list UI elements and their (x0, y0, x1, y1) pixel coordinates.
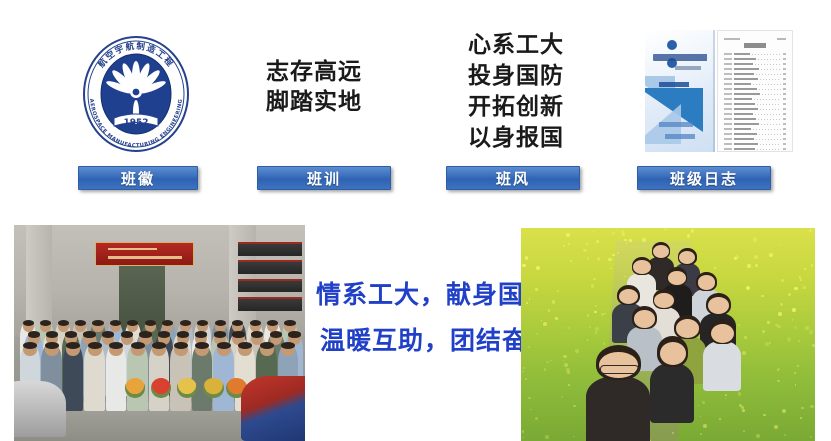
cover-university-subtitle (675, 66, 701, 70)
flower-speck (703, 424, 707, 428)
flower-speck (664, 228, 667, 231)
person-hair (66, 342, 80, 349)
flower-speck (552, 300, 555, 303)
toc-row (724, 52, 786, 56)
flower-speck (784, 434, 786, 436)
flower-speck (608, 258, 611, 261)
parked-car-left (14, 381, 66, 437)
flower-speck (753, 237, 757, 241)
banfeng-line-2: 投身国防 (468, 61, 564, 92)
toc-row (724, 77, 786, 81)
person-hair (177, 331, 189, 337)
person-body (650, 363, 694, 423)
person-hair (195, 331, 207, 337)
flower-speck (774, 425, 778, 429)
flower-speck (719, 418, 721, 420)
banfeng-motto-text: 心系工大 投身国防 开拓创新 以身报国 (468, 30, 564, 154)
flower-speck (567, 327, 570, 330)
flower-speck (589, 326, 591, 328)
cover-subtitle-line-2 (665, 134, 695, 139)
banxun-line-1: 志存高远 (266, 57, 362, 87)
person-face (711, 324, 734, 343)
person-face (708, 297, 729, 314)
person-hair (281, 342, 295, 349)
flower-speck (725, 398, 727, 400)
toc-row (724, 117, 786, 121)
flower-speck (792, 308, 796, 312)
banxun-line-2: 脚踏实地 (266, 87, 362, 117)
flower-speck (742, 351, 746, 355)
flower-speck (787, 337, 791, 341)
person-hair (214, 331, 226, 337)
banfeng-line-3: 开拓创新 (468, 92, 564, 123)
flower-speck (761, 295, 764, 298)
cover-university-name (653, 54, 709, 61)
flower-speck (746, 286, 750, 290)
banxun-motto-text: 志存高远 脚踏实地 (266, 57, 362, 117)
flower-speck (794, 372, 796, 374)
flower-speck (781, 279, 784, 282)
rapeseed-field-selfie (521, 228, 815, 441)
person-face (633, 260, 651, 274)
flower-speck (756, 434, 760, 438)
flower-speck (566, 368, 569, 371)
toc-row (724, 72, 786, 76)
slogan-line-2: 温暖互助，团结奋进 (316, 318, 516, 364)
flower-speck (743, 430, 745, 432)
toc-row (724, 147, 786, 151)
flower-speck (525, 378, 527, 380)
flower-speck (763, 414, 765, 416)
toc-row (724, 132, 786, 136)
class-group-photo (14, 225, 305, 441)
toc-row (724, 57, 786, 61)
flower-speck (563, 245, 565, 247)
flower-speck (568, 384, 570, 386)
person-hair (45, 342, 59, 349)
flower-speck (810, 405, 814, 409)
flower-speck (591, 284, 595, 288)
person-hair (260, 342, 274, 349)
toc-title-bar (744, 43, 766, 48)
person-hair (88, 342, 102, 349)
flower-speck (523, 367, 524, 368)
class-emblem-icon: 1952 航空宇航制造工程 AEROSPACE MANUFACTURING EN… (74, 26, 198, 158)
toc-row (724, 82, 786, 86)
toc-header (724, 38, 786, 40)
flower-speck (557, 290, 559, 292)
person-hair (83, 331, 95, 337)
slide-root: 1952 航空宇航制造工程 AEROSPACE MANUFACTURING EN… (0, 0, 831, 441)
person-hair (139, 331, 151, 337)
person-hair (250, 320, 261, 326)
flower-speck (566, 233, 569, 236)
person-face (654, 293, 673, 309)
person-hair (232, 331, 244, 337)
flower-speck (522, 430, 524, 432)
flower-speck (573, 405, 575, 407)
parked-car-right (241, 376, 305, 441)
flower-speck (561, 396, 563, 398)
person-hair (92, 320, 103, 326)
flower-speck (587, 314, 589, 316)
label-banxun[interactable]: 班训 (257, 166, 391, 190)
flower-speck (742, 409, 745, 412)
person-hair (238, 342, 252, 349)
flower-speck (777, 380, 779, 382)
person-face (698, 275, 716, 289)
toc-row (724, 102, 786, 106)
document-contents-page (717, 30, 793, 152)
flower-speck (794, 287, 797, 290)
flower-speck (544, 368, 547, 371)
university-crest-icon (667, 40, 693, 51)
flower-speck (612, 254, 615, 257)
person-hair (46, 331, 58, 337)
flower-speck (809, 229, 812, 232)
class-log-document-image (645, 30, 793, 152)
flower-speck (573, 436, 575, 438)
flower-speck (568, 243, 570, 245)
flower-speck (642, 238, 645, 241)
person-face (660, 342, 686, 365)
person-hair (23, 342, 37, 349)
flower-speck (523, 437, 525, 439)
toc-row (724, 107, 786, 111)
flower-speck (798, 340, 799, 341)
bouquet (151, 378, 171, 398)
person-hair (174, 342, 188, 349)
toc-row (724, 142, 786, 146)
flower-speck (595, 327, 599, 331)
glasses-icon (600, 365, 640, 375)
flower-speck (754, 255, 758, 259)
emblem-column: 1952 航空宇航制造工程 AEROSPACE MANUFACTURING EN… (58, 22, 218, 162)
person-hair (65, 331, 77, 337)
bouquet (125, 378, 145, 398)
person-face (653, 245, 669, 258)
flower-speck (595, 331, 597, 333)
person-hair (158, 331, 170, 337)
flower-speck (747, 264, 751, 268)
toc-row (724, 127, 786, 131)
person-hair (58, 320, 69, 326)
flower-speck (725, 394, 727, 396)
person-body (703, 341, 741, 390)
flower-speck (738, 392, 741, 395)
flower-speck (777, 325, 780, 328)
person-hair (270, 331, 282, 337)
banfeng-line-4: 以身报国 (468, 123, 564, 154)
flower-speck (587, 339, 589, 341)
flower-speck (604, 313, 605, 314)
flower-speck (617, 252, 619, 254)
label-banfeng[interactable]: 班风 (446, 166, 580, 190)
flower-speck (536, 266, 540, 270)
document-spine (713, 30, 715, 152)
slide-slogan: 情系工大，献身国防 温暖互助，团结奋进 (316, 272, 516, 364)
flower-speck (744, 336, 747, 339)
flower-speck (799, 276, 801, 278)
person-hair (152, 342, 166, 349)
toc-row (724, 87, 786, 91)
flower-speck (601, 313, 604, 316)
person-face (676, 319, 699, 337)
person-hair (288, 331, 300, 337)
toc-row-list (724, 52, 786, 151)
flower-speck (603, 342, 605, 344)
person-hair (23, 320, 34, 326)
person-hair (217, 342, 231, 349)
person-hair (28, 331, 40, 337)
person-body (586, 376, 651, 441)
toc-row (724, 92, 786, 96)
flower-speck (687, 234, 690, 237)
person-hair (284, 320, 295, 326)
toc-row (724, 67, 786, 71)
wall-notice-boards (238, 242, 302, 315)
cover-title-line (659, 82, 689, 87)
cover-subtitle-line-1 (659, 122, 693, 127)
flower-speck (624, 239, 626, 241)
toc-row (724, 97, 786, 101)
label-banjirizhi[interactable]: 班级日志 (637, 166, 771, 190)
person-hair (121, 331, 133, 337)
emblem-year: 1952 (123, 118, 148, 128)
banfeng-line-1: 心系工大 (468, 30, 564, 61)
person-hair (109, 342, 123, 349)
label-banhui[interactable]: 班徽 (78, 166, 198, 190)
flower-speck (575, 349, 579, 353)
red-event-banner (95, 242, 194, 266)
person-hair (215, 320, 226, 326)
person-hair (251, 331, 263, 337)
person-face (668, 271, 686, 285)
flower-speck (734, 257, 737, 260)
flower-speck (762, 330, 765, 333)
flower-speck (782, 409, 786, 413)
flower-speck (809, 330, 813, 334)
flower-speck (594, 311, 596, 313)
flower-speck (672, 432, 673, 433)
person-hair (145, 320, 156, 326)
flower-speck (597, 257, 600, 260)
flower-speck (586, 243, 588, 245)
flower-speck (778, 312, 782, 316)
top-section: 1952 航空宇航制造工程 AEROSPACE MANUFACTURING EN… (0, 0, 831, 200)
toc-row (724, 122, 786, 126)
person-hair (131, 342, 145, 349)
flower-speck (563, 355, 566, 358)
person-hair (180, 320, 191, 326)
flower-speck (610, 268, 611, 269)
person-face (634, 310, 655, 327)
toc-row (724, 137, 786, 141)
flower-speck (564, 363, 568, 367)
person-hair (195, 342, 209, 349)
document-cover-page (645, 30, 715, 152)
flower-speck (778, 368, 780, 370)
flower-speck (629, 239, 632, 242)
person-hair (102, 331, 114, 337)
slogan-line-1: 情系工大，献身国防 (316, 272, 516, 318)
bouquet (203, 378, 223, 398)
flower-speck (595, 305, 597, 307)
flower-speck (797, 365, 798, 366)
flower-speck (803, 286, 806, 289)
toc-row (724, 62, 786, 66)
toc-row (724, 112, 786, 116)
